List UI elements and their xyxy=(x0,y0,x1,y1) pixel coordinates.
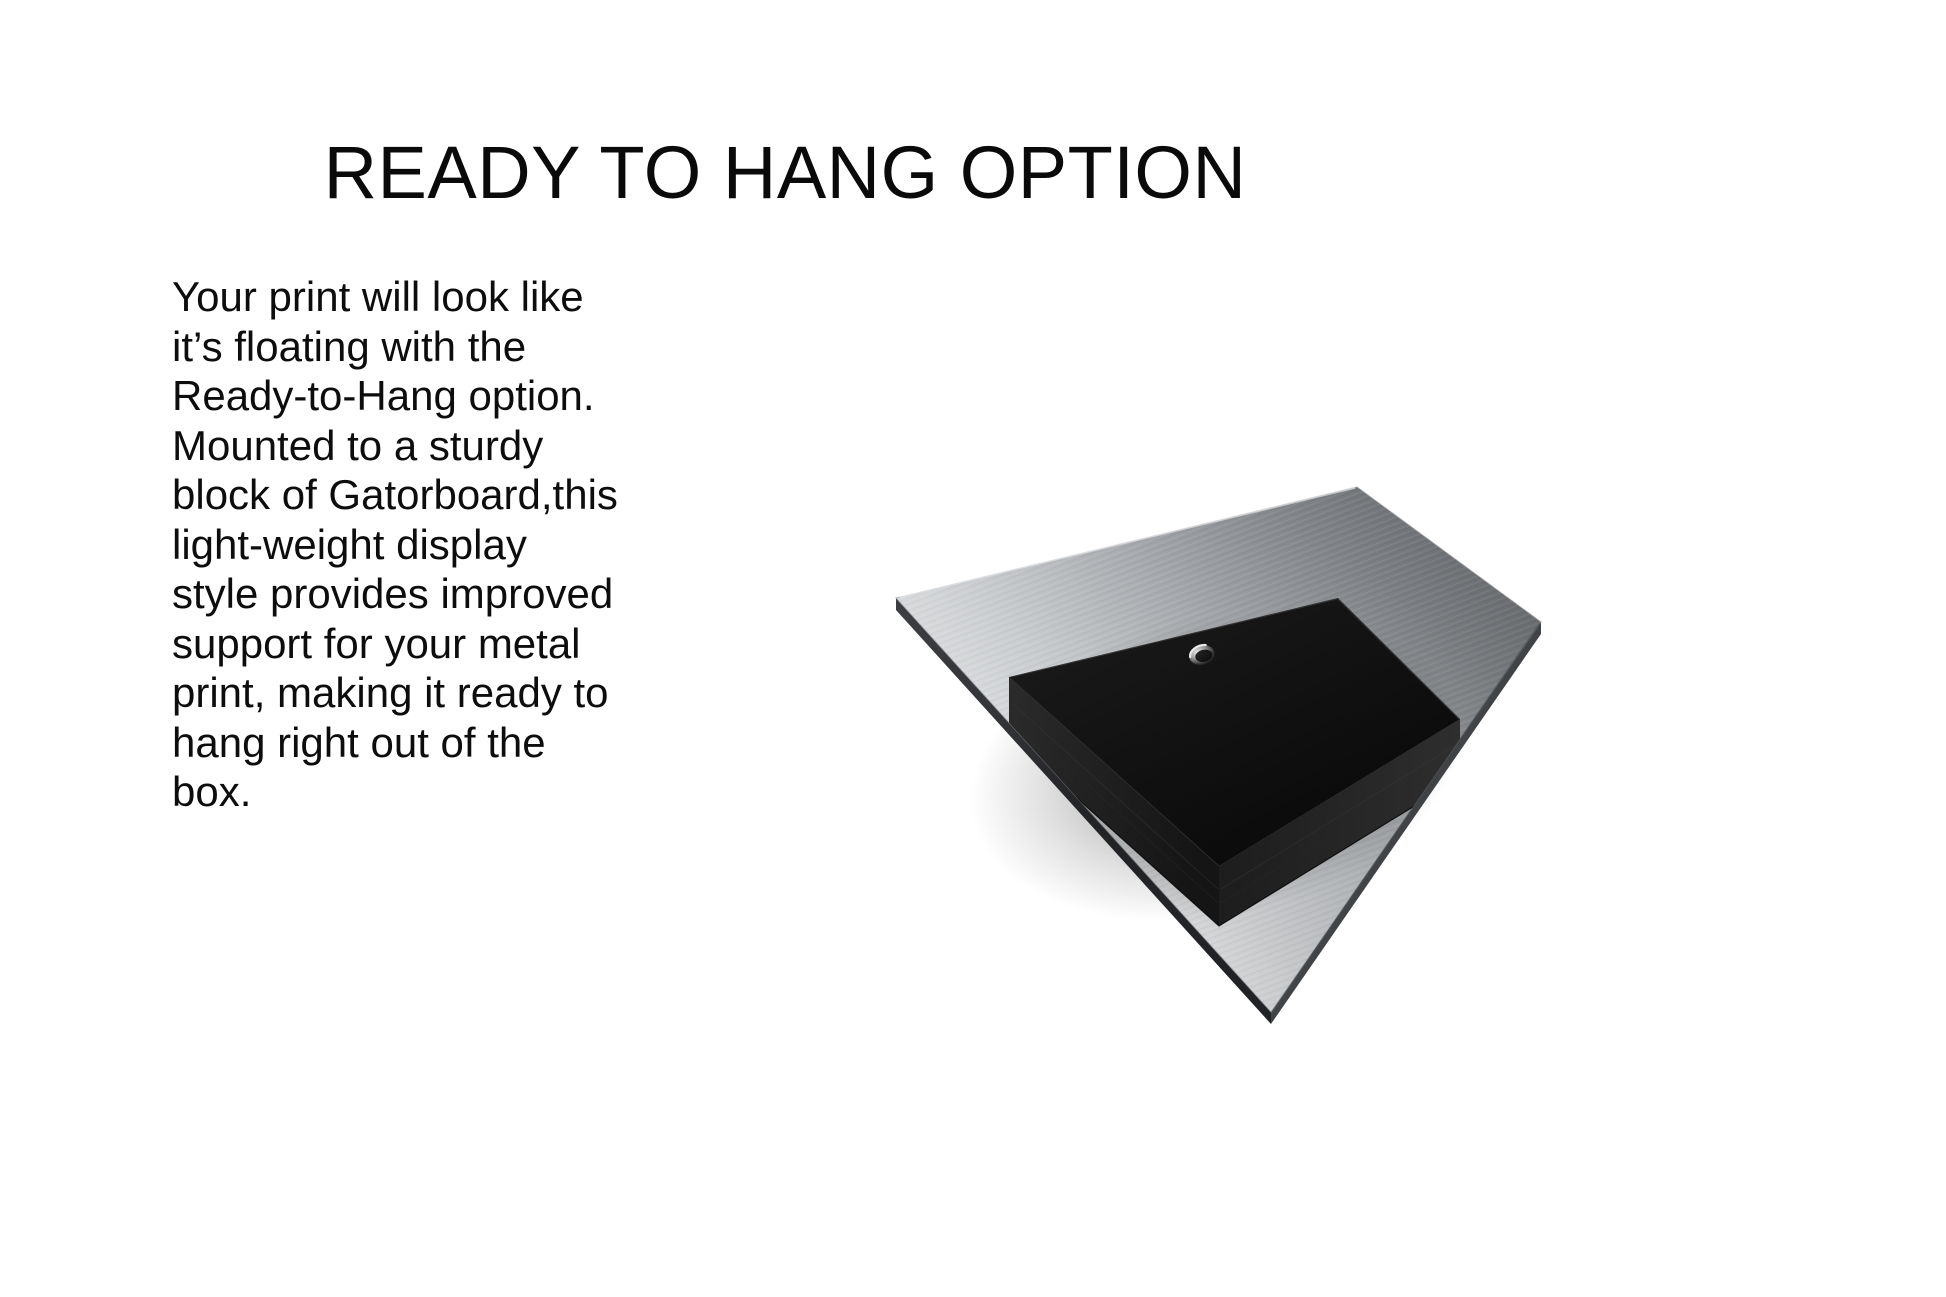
body-line: Mounted to a sturdy xyxy=(172,421,642,471)
page-title: READY TO HANG OPTION xyxy=(0,136,1570,210)
body-line: Ready-to-Hang option. xyxy=(172,371,642,421)
body-line: block of Gatorboard,this xyxy=(172,470,642,520)
slide-canvas: READY TO HANG OPTION Your print will loo… xyxy=(0,0,1946,1297)
product-illustration-svg xyxy=(700,366,1680,1106)
body-line: box. xyxy=(172,767,642,817)
body-line: print, making it ready to xyxy=(172,668,642,718)
product-image-ready-to-hang xyxy=(700,366,1680,1106)
body-line: Your print will look like xyxy=(172,272,642,322)
body-line: light-weight display xyxy=(172,520,642,570)
body-line: hang right out of the xyxy=(172,718,642,768)
body-line: style provides improved xyxy=(172,569,642,619)
body-copy-block: Your print will look like it’s floating … xyxy=(172,272,642,817)
body-line: support for your metal xyxy=(172,619,642,669)
body-line: it’s floating with the xyxy=(172,322,642,372)
